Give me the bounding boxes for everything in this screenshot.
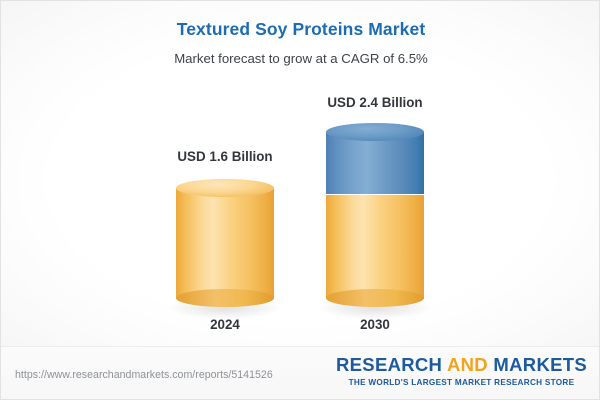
logo-word-and: AND (447, 354, 488, 375)
bar-segment-growth-2030[interactable] (326, 123, 424, 204)
research-and-markets-logo[interactable]: RESEARCH AND MARKETS THE WORLD'S LARGEST… (336, 356, 587, 387)
report-url-link[interactable]: https://www.researchandmarkets.com/repor… (15, 369, 273, 381)
bar-group-2024: USD 1.6 Billion 2024 (161, 1, 289, 346)
bar-segment-base-body-2030 (326, 195, 424, 298)
bar-segment-growth-body-fill-2030 (326, 132, 424, 194)
infographic-card: Textured Soy Proteins Market Market fore… (0, 0, 600, 400)
bar-segment-base-2030[interactable] (326, 195, 424, 307)
logo-tagline: THE WORLD'S LARGEST MARKET RESEARCH STOR… (336, 378, 587, 387)
bar-segment-base-2024 (176, 188, 274, 298)
logo-word-research: RESEARCH (336, 354, 442, 375)
logo-wordmark: RESEARCH AND MARKETS (336, 356, 587, 375)
logo-word-markets: MARKETS (493, 354, 587, 375)
bar-value-label-2024: USD 1.6 Billion (161, 149, 289, 164)
bar-segment-base-body-fill-2030 (326, 195, 424, 298)
bar-value-label-2030: USD 2.4 Billion (311, 95, 439, 110)
category-label-2024: 2024 (161, 317, 289, 332)
bar-segment-base-body-2024 (176, 188, 274, 298)
bar-cylinder-bottom-2024 (176, 289, 274, 307)
bar-cylinder-top-2024 (176, 179, 274, 197)
category-label-2030: 2030 (311, 317, 439, 332)
bar-cylinder-2024[interactable] (176, 179, 274, 307)
bar-cylinder-bottom-2030 (326, 289, 424, 307)
bar-cylinder-top-2030 (326, 123, 424, 141)
bar-segment-growth-body-2030 (326, 132, 424, 194)
bar-group-2030: USD 2.4 Billion 2030 (311, 1, 439, 346)
footer-bar: https://www.researchandmarkets.com/repor… (1, 346, 600, 399)
chart-plot-area: USD 1.6 Billion 2024 USD 2.4 Billion (1, 1, 600, 346)
